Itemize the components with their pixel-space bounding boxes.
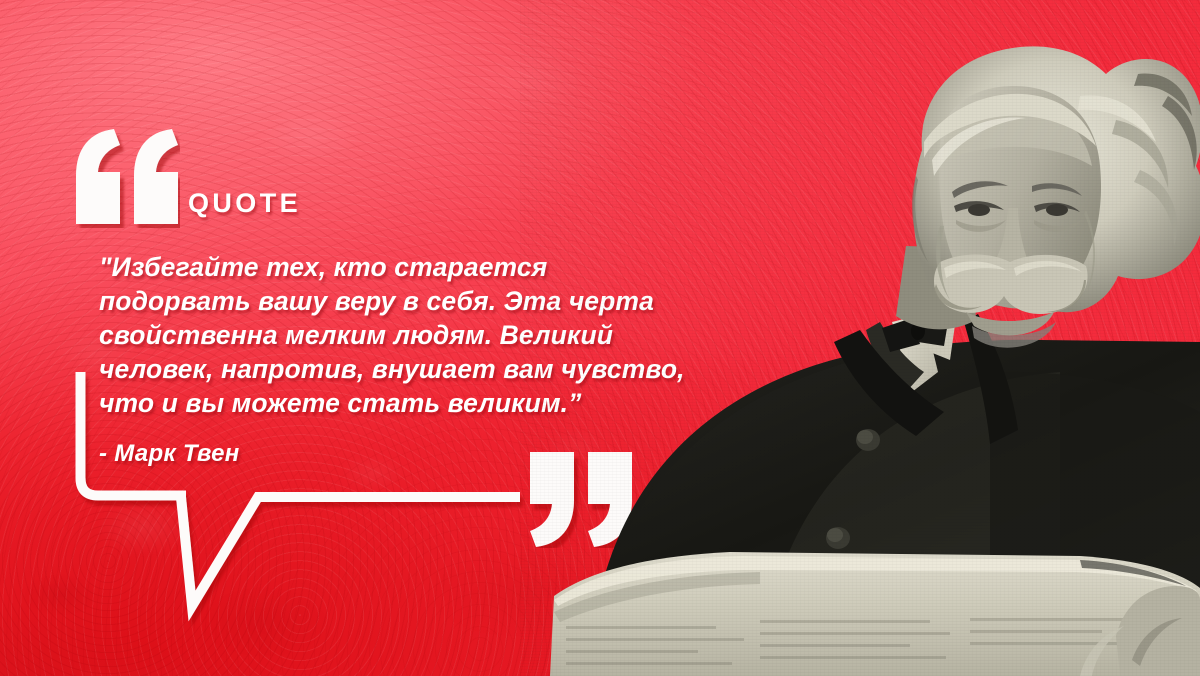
open-quote-icon: [74, 128, 180, 228]
portrait-photo: [520, 0, 1200, 676]
quote-author: - Марк Твен: [99, 440, 240, 468]
quote-card: QUOTE "Избегайте тех, кто старается подо…: [0, 0, 1200, 676]
quote-label: QUOTE: [188, 188, 301, 219]
